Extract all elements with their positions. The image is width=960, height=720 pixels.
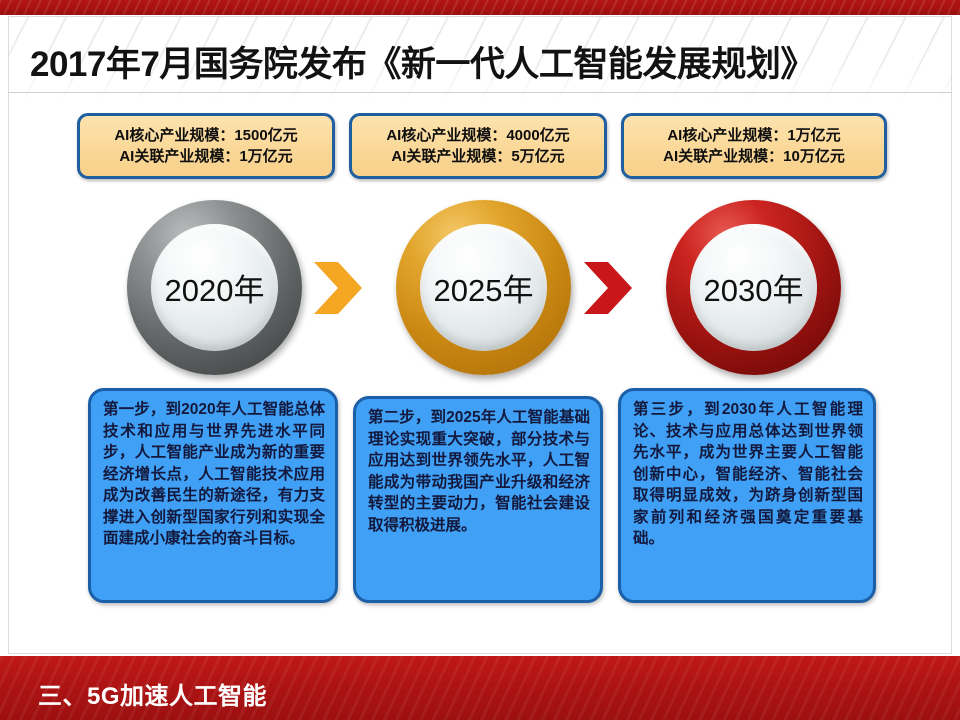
stat-box-2030[interactable]: AI核心产业规模：1万亿元 AI关联产业规模：10万亿元 [621,113,887,179]
stat-related-industry-2025: AI关联产业规模：5万亿元 [352,146,604,167]
milestone-circle-2030-inner: 2030年 [690,224,817,351]
arrow-right-gold-icon [312,258,364,318]
stat-core-industry-2025: AI核心产业规模：4000亿元 [352,125,604,146]
stat-core-industry-2030: AI核心产业规模：1万亿元 [624,125,884,146]
presentation-slide: 2017年7月国务院发布《新一代人工智能发展规划》 AI核心产业规模：1500亿… [0,0,960,720]
milestone-year-2020: 2020年 [165,265,265,310]
step-text-second: 第二步，到2025年人工智能基础理论实现重大突破，部分技术与应用达到世界领先水平… [368,407,590,536]
step-text-first: 第一步，到2020年人工智能总体技术和应用与世界先进水平同步，人工智能产业成为新… [103,399,325,550]
stat-core-industry-2020: AI核心产业规模：1500亿元 [80,125,332,146]
stat-box-row: AI核心产业规模：1500亿元 AI关联产业规模：1万亿元 AI核心产业规模：4… [77,113,887,179]
stat-box-2025[interactable]: AI核心产业规模：4000亿元 AI关联产业规模：5万亿元 [349,113,607,179]
stat-box-2030-lines: AI核心产业规模：1万亿元 AI关联产业规模：10万亿元 [624,125,884,167]
step-box-second[interactable]: 第二步，到2025年人工智能基础理论实现重大突破，部分技术与应用达到世界领先水平… [353,396,603,603]
stat-box-2020[interactable]: AI核心产业规模：1500亿元 AI关联产业规模：1万亿元 [77,113,335,179]
milestone-circle-2025-inner: 2025年 [420,224,547,351]
title-divider [9,92,951,93]
stat-box-2020-lines: AI核心产业规模：1500亿元 AI关联产业规模：1万亿元 [80,125,332,167]
step-text-third: 第三步，到2030年人工智能理论、技术与应用总体达到世界领先水平，成为世界主要人… [633,399,863,550]
milestone-circle-2025[interactable]: 2025年 [396,200,571,375]
milestone-circle-row: 2020年 2025年 2030年 [0,200,960,380]
milestone-circle-2020[interactable]: 2020年 [127,200,302,375]
top-red-band [0,0,960,15]
section-footer-title: 三、5G加速人工智能 [38,676,267,711]
milestone-circle-2030[interactable]: 2030年 [666,200,841,375]
step-box-third[interactable]: 第三步，到2030年人工智能理论、技术与应用总体达到世界领先水平，成为世界主要人… [618,388,876,603]
stat-related-industry-2030: AI关联产业规模：10万亿元 [624,146,884,167]
milestone-circle-2020-inner: 2020年 [151,224,278,351]
step-box-first[interactable]: 第一步，到2020年人工智能总体技术和应用与世界先进水平同步，人工智能产业成为新… [88,388,338,603]
stat-box-2025-lines: AI核心产业规模：4000亿元 AI关联产业规模：5万亿元 [352,125,604,167]
milestone-year-2030: 2030年 [704,265,804,310]
milestone-year-2025: 2025年 [434,265,534,310]
arrow-right-red-icon [582,258,634,318]
stat-related-industry-2020: AI关联产业规模：1万亿元 [80,146,332,167]
page-title: 2017年7月国务院发布《新一代人工智能发展规划》 [30,40,920,90]
